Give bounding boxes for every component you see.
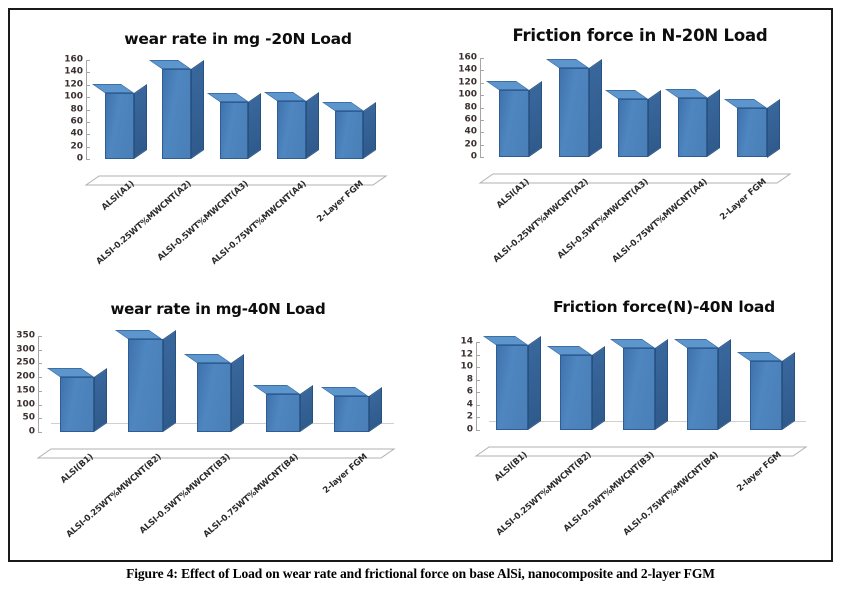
bar-top-face	[724, 99, 767, 108]
bar-side-face	[134, 84, 147, 159]
y-tick-label: 14	[460, 338, 473, 347]
y-tick-label: 20	[70, 142, 83, 151]
y-tick-label: 0	[77, 155, 83, 164]
y-tick-label: 160	[458, 54, 477, 63]
bar[interactable]	[750, 361, 782, 430]
bar-top-face	[546, 59, 589, 68]
bar[interactable]	[335, 111, 364, 159]
y-tick-label: 40	[70, 130, 83, 139]
plot-area: 020406080100120140160ALSI(A1)ALSI-0.25WT…	[86, 60, 386, 185]
bar-top-face	[605, 90, 648, 99]
bar-front-face	[687, 348, 719, 430]
bar-top-face	[92, 84, 134, 93]
bar[interactable]	[60, 377, 94, 432]
bar-top-face	[665, 89, 708, 98]
y-tick-label: 300	[16, 345, 35, 354]
bar-front-face	[678, 98, 708, 157]
category-label: ALSI-0.75WT%MWCNT(A4)	[209, 179, 308, 267]
bar-side-face	[707, 89, 720, 157]
bar-side-face	[648, 90, 661, 157]
bar[interactable]	[499, 90, 529, 157]
bar-top-face	[149, 60, 191, 69]
bar-top-face	[253, 385, 300, 394]
bar-top-face	[483, 336, 528, 345]
bar-front-face	[737, 108, 767, 158]
y-tick-label: 60	[464, 115, 477, 124]
y-tick-label: 0	[471, 153, 477, 162]
bar-series	[476, 342, 806, 456]
bar-series	[86, 60, 386, 185]
bar-front-face	[220, 102, 249, 159]
bar-side-face	[231, 354, 244, 432]
bar-front-face	[162, 69, 191, 159]
bar[interactable]	[220, 102, 249, 159]
category-axis-labels: ALSI(A1)ALSI-0.25WT%MWCNT(A2)ALSI-0.5WT%…	[86, 185, 386, 295]
y-tick-label: 100	[458, 91, 477, 100]
category-label: 2-layer FGM	[735, 450, 783, 494]
bar[interactable]	[687, 348, 719, 430]
bar[interactable]	[277, 101, 306, 159]
y-tick-label: 120	[64, 80, 83, 89]
category-axis-labels: ALSI(B1)ALSI-0.25WT%MWCNT(B2)ALSI-0.5WT%…	[476, 456, 806, 566]
category-label: ALSI(B1)	[493, 450, 530, 484]
bar-side-face	[306, 92, 319, 159]
category-axis-labels: ALSI(B1)ALSI-0.25WT%MWCNT(B2)ALSI-0.5WT%…	[38, 458, 394, 568]
category-label: ALSI(B1)	[58, 452, 95, 486]
bar[interactable]	[737, 108, 767, 158]
y-tick-label: 80	[464, 103, 477, 112]
y-tick-label: 0	[29, 428, 35, 437]
bar-side-face	[369, 387, 382, 432]
bar[interactable]	[623, 348, 655, 430]
bar-front-face	[334, 396, 368, 432]
chart-wear-rate-20n: wear rate in mg -20N Load 02040608010012…	[16, 14, 420, 292]
bar-top-face	[115, 330, 162, 339]
bar-top-face	[207, 93, 249, 102]
bar-top-face	[486, 81, 529, 90]
chart-wear-rate-40n: wear rate in mg-40N Load 050100150200250…	[16, 292, 420, 560]
bar[interactable]	[496, 345, 528, 430]
plot-area: 050100150200250300350ALSI(B1)ALSI-0.25WT…	[38, 336, 394, 458]
bar-front-face	[128, 339, 162, 432]
y-tick-label: 120	[458, 78, 477, 87]
figure-border: wear rate in mg -20N Load 02040608010012…	[8, 8, 833, 562]
bar[interactable]	[105, 93, 134, 159]
bar-side-face	[528, 336, 541, 430]
bar-front-face	[197, 363, 231, 432]
y-tick-label: 12	[460, 350, 473, 359]
bar-side-face	[163, 330, 176, 432]
bar-top-face	[47, 368, 94, 377]
category-label: ALSI(A1)	[495, 177, 532, 211]
bar[interactable]	[560, 355, 592, 430]
chart-title: Friction force in N-20N Load	[422, 26, 841, 45]
bar-front-face	[559, 68, 589, 157]
chart-friction-force-40n: Friction force(N)-40N load 02468101214AL…	[422, 292, 830, 560]
chart-title: wear rate in mg-40N Load	[16, 300, 420, 318]
y-tick-label: 350	[16, 332, 35, 341]
y-tick-label: 50	[22, 414, 35, 423]
y-tick-label: 80	[70, 105, 83, 114]
y-tick-label: 160	[64, 56, 83, 65]
category-label: ALSI(A1)	[99, 179, 136, 213]
bar-side-face	[589, 59, 602, 157]
chart-friction-force-20n: Friction force in N-20N Load 02040608010…	[422, 14, 830, 292]
bar-top-face	[547, 346, 592, 355]
bar-side-face	[94, 368, 107, 432]
bar-series	[38, 336, 394, 458]
bar-top-face	[321, 387, 368, 396]
bar-side-face	[718, 339, 731, 430]
bar[interactable]	[559, 68, 589, 157]
y-tick-label: 20	[464, 140, 477, 149]
bar[interactable]	[678, 98, 708, 157]
y-tick-label: 200	[16, 373, 35, 382]
plot-area: 02468101214ALSI(B1)ALSI-0.25WT%MWCNT(B2)…	[476, 342, 806, 456]
bar[interactable]	[618, 99, 648, 157]
y-tick-label: 8	[467, 375, 473, 384]
bar-front-face	[335, 111, 364, 159]
plot-area: 020406080100120140160ALSI(A1)ALSI-0.25WT…	[480, 58, 790, 183]
bar[interactable]	[128, 339, 162, 432]
chart-title: wear rate in mg -20N Load	[16, 30, 440, 48]
bar-side-face	[529, 81, 542, 157]
bar-front-face	[623, 348, 655, 430]
y-tick-label: 40	[464, 128, 477, 137]
bar[interactable]	[334, 396, 368, 432]
category-label: 2-layer FGM	[321, 452, 369, 496]
category-label: ALSI-0.75WT%MWCNT(A4)	[611, 177, 710, 265]
bar-side-face	[592, 346, 605, 430]
bar-top-face	[322, 102, 364, 111]
bar-front-face	[105, 93, 134, 159]
y-tick-label: 100	[64, 93, 83, 102]
bar-side-face	[248, 93, 261, 159]
bar-side-face	[782, 352, 795, 430]
y-tick-label: 100	[16, 400, 35, 409]
bar-top-face	[264, 92, 306, 101]
category-label: 2-Layer FGM	[719, 177, 769, 222]
bar-top-face	[737, 352, 782, 361]
y-tick-label: 0	[467, 426, 473, 435]
bar[interactable]	[162, 69, 191, 159]
bar-side-face	[767, 99, 780, 158]
bar-top-face	[184, 354, 231, 363]
y-tick-label: 250	[16, 359, 35, 368]
category-label: 2-Layer FGM	[316, 179, 366, 224]
figure-caption: Figure 4: Effect of Load on wear rate an…	[0, 566, 841, 582]
y-tick-label: 2	[467, 413, 473, 422]
bar[interactable]	[197, 363, 231, 432]
y-tick-label: 140	[64, 68, 83, 77]
y-tick-label: 140	[458, 66, 477, 75]
chart-grid: wear rate in mg -20N Load 02040608010012…	[10, 10, 831, 560]
chart-title: Friction force(N)-40N load	[422, 298, 841, 316]
bar-side-face	[300, 385, 313, 432]
y-tick-label: 150	[16, 386, 35, 395]
category-label: ALSI-0.25WT%MWCNT(A2)	[95, 179, 194, 267]
bar-series	[480, 58, 790, 183]
category-axis-labels: ALSI(A1)ALSI-0.25WT%MWCNT(A2)ALSI-0.5WT%…	[480, 183, 790, 293]
y-tick-label: 6	[467, 388, 473, 397]
bar-front-face	[277, 101, 306, 159]
bar-front-face	[499, 90, 529, 157]
bar-front-face	[750, 361, 782, 430]
bar-side-face	[191, 60, 204, 159]
bar-front-face	[60, 377, 94, 432]
category-label: ALSI-0.25WT%MWCNT(A2)	[492, 177, 591, 265]
bar-front-face	[496, 345, 528, 430]
y-tick-label: 10	[460, 363, 473, 372]
y-tick-label: 4	[467, 400, 473, 409]
bar-top-face	[610, 339, 655, 348]
bar-front-face	[560, 355, 592, 430]
bar-top-face	[674, 339, 719, 348]
bar-front-face	[618, 99, 648, 157]
y-tick-label: 60	[70, 117, 83, 126]
bar-side-face	[655, 339, 668, 430]
bar-side-face	[363, 102, 376, 159]
bar-front-face	[266, 394, 300, 432]
bar[interactable]	[266, 394, 300, 432]
